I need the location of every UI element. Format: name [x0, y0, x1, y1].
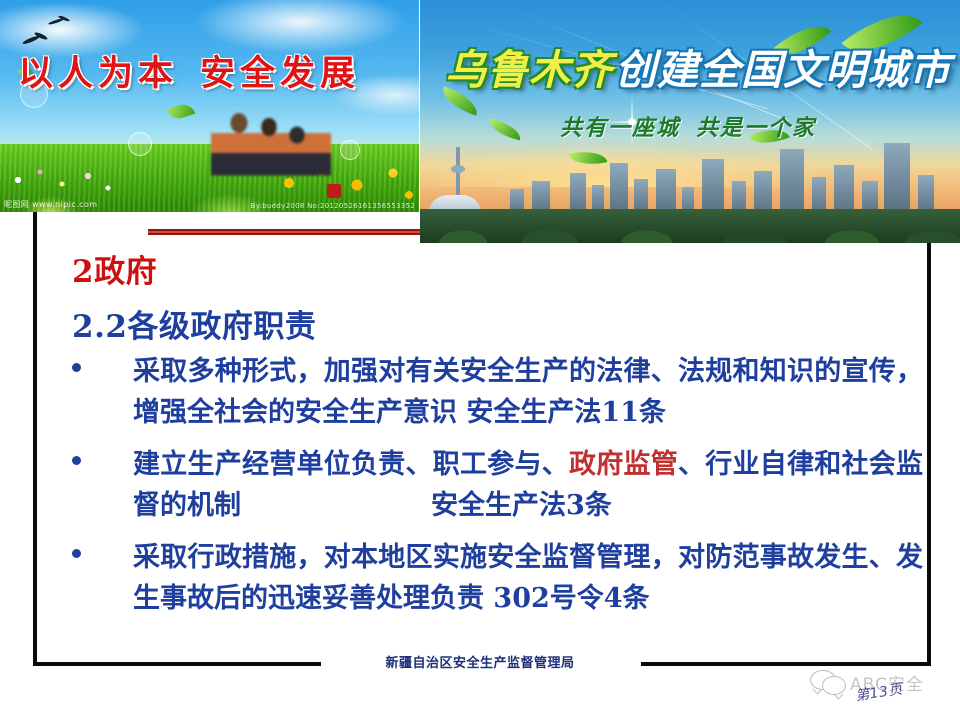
bullet-dot-icon — [72, 549, 81, 558]
banner-image-right: 乌鲁木齐创建全国文明城市 共有一座城共是一个家 — [420, 0, 960, 243]
banner-right-subtitle-part2: 共是一个家 — [696, 116, 816, 141]
list-item: 采取多种形式，加强对有关安全生产的法律、法规和知识的宣传，增强全社会的安全生产意… — [0, 351, 960, 433]
chat-bubbles-icon — [808, 668, 848, 694]
list-item: 建立生产经营单位负责、职工参与、政府监管、行业自律和社会监督的机制安全生产法3条 — [0, 444, 960, 526]
list-item-text: 建立生产经营单位负责、职工参与、政府监管、行业自律和社会监督的机制安全生产法3条 — [133, 444, 923, 526]
bullet-list: 采取多种形式，加强对有关安全生产的法律、法规和知识的宣传，增强全社会的安全生产意… — [0, 351, 960, 630]
banner-right-title-rest: 创建全国文明城市 — [615, 46, 951, 94]
bullet-text-highlight: 政府监管 — [569, 449, 678, 480]
building-shape — [884, 143, 910, 215]
building-shape — [834, 165, 854, 215]
building-shape — [780, 149, 804, 215]
section-heading-blue: 2.2各级政府职责 — [72, 301, 316, 346]
banner-left-watermark-right: By:buddy2008 No:20120526161356553352 — [251, 202, 416, 210]
bubble-decoration — [340, 140, 360, 160]
banner-left-title-part1: 以人为本 — [18, 54, 178, 94]
family-photo-decoration — [211, 109, 331, 194]
bullet-reference: 安全生产法11条 — [466, 397, 666, 428]
seal-stamp-icon — [327, 184, 341, 198]
leaf-icon — [167, 101, 196, 121]
banner-right-subtitle-part1: 共有一座城 — [560, 116, 680, 141]
banner-right-title: 乌鲁木齐创建全国文明城市 — [445, 36, 951, 96]
red-divider-rule — [148, 229, 420, 235]
building-shape — [610, 163, 628, 215]
bullet-reference: 302号令4条 — [493, 583, 649, 614]
bullet-dot-icon — [72, 363, 81, 372]
banner-left-title: 以人为本安全发展 — [18, 45, 408, 96]
list-item: 采取行政措施，对本地区实施安全监督管理，对防范事故发生、发生事故后的迅速妥善处理… — [0, 537, 960, 619]
bullet-reference: 安全生产法3条 — [431, 490, 612, 521]
banner-image-left: 以人为本安全发展 昵图网 www.nipic.com By:buddy2008 … — [0, 0, 419, 212]
section-heading-red: 2政府 — [72, 246, 157, 291]
bubble-decoration — [128, 132, 152, 156]
banner-left-title-part2: 安全发展 — [200, 54, 360, 94]
tree-line-decoration — [420, 209, 960, 243]
presentation-slide: 以人为本安全发展 昵图网 www.nipic.com By:buddy2008 … — [0, 0, 960, 720]
banner-right-subtitle: 共有一座城共是一个家 — [560, 110, 816, 142]
banner-right-title-highlight: 乌鲁木齐 — [445, 46, 613, 94]
bullet-dot-icon — [72, 456, 81, 465]
building-shape — [702, 159, 724, 215]
list-item-text: 采取行政措施，对本地区实施安全监督管理，对防范事故发生、发生事故后的迅速妥善处理… — [133, 537, 923, 619]
bullet-text-before: 建立生产经营单位负责、职工参与、 — [133, 449, 569, 480]
banner-left-watermark-left: 昵图网 www.nipic.com — [4, 199, 97, 210]
list-item-text: 采取多种形式，加强对有关安全生产的法律、法规和知识的宣传，增强全社会的安全生产意… — [133, 351, 923, 433]
